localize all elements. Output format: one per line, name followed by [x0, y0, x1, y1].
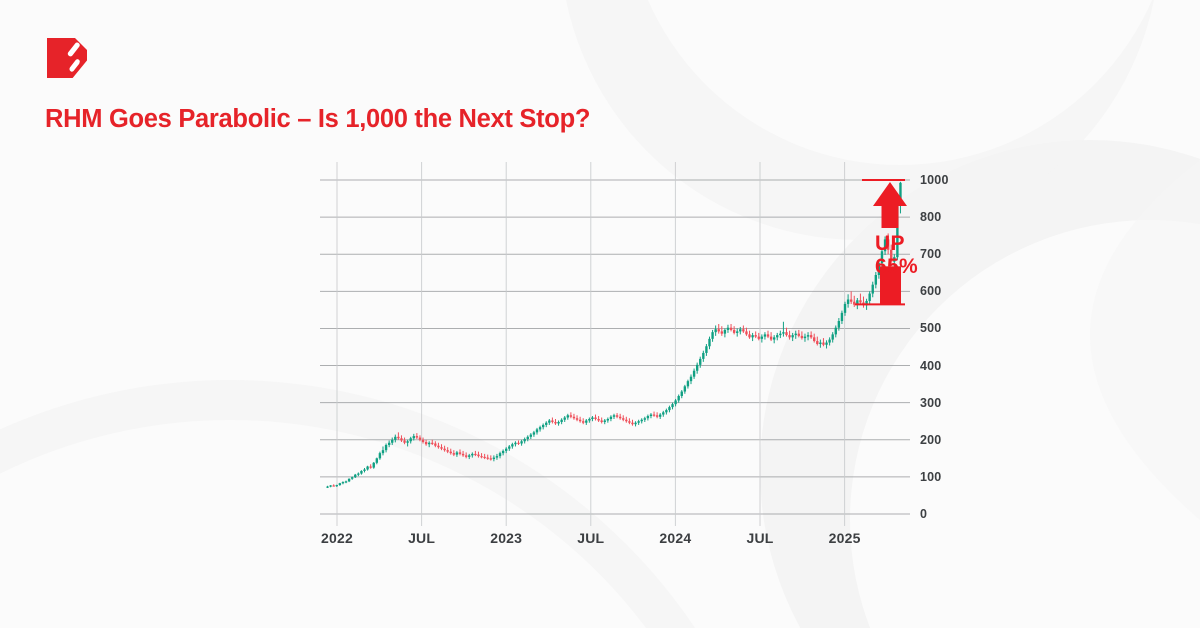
candle-body: [610, 417, 612, 419]
candle-body: [604, 420, 606, 421]
brand-logo[interactable]: [45, 36, 89, 80]
candle-body: [533, 432, 535, 434]
page-title: RHM Goes Parabolic – Is 1,000 the Next S…: [45, 105, 590, 134]
candle-body: [345, 481, 347, 482]
candle-body: [859, 300, 861, 302]
candle-body: [773, 337, 775, 339]
candle-body: [369, 466, 371, 467]
candle-body: [714, 329, 716, 332]
candle-body: [354, 475, 356, 478]
candle-body: [329, 485, 331, 486]
candle-body: [560, 420, 562, 422]
candle-series: [326, 182, 901, 488]
candle-body: [724, 330, 726, 334]
candle-body: [656, 415, 658, 416]
candle-body: [748, 334, 750, 337]
candle-body: [539, 427, 541, 429]
annotation-line-2: 65%: [875, 256, 918, 279]
candle-body: [505, 449, 507, 451]
candle-body: [637, 421, 639, 422]
candle-body: [453, 453, 455, 454]
candle-body: [385, 445, 387, 450]
candle-body: [388, 443, 390, 445]
candle-body: [711, 332, 713, 339]
candle-body: [690, 377, 692, 381]
candle-body: [465, 455, 467, 456]
candle-body: [545, 423, 547, 425]
y-axis-tick-label: 600: [920, 284, 941, 298]
candle-body: [641, 420, 643, 421]
candle-body: [653, 415, 655, 416]
candle-body: [567, 415, 569, 417]
candle-body: [490, 458, 492, 459]
candle-body: [751, 335, 753, 337]
candle-body: [376, 458, 378, 462]
candle-body: [785, 332, 787, 335]
candle-body: [468, 455, 470, 456]
candle-body: [835, 328, 837, 335]
candle-body: [693, 371, 695, 377]
candle-body: [872, 285, 874, 294]
candle-body: [573, 417, 575, 418]
candle-body: [554, 422, 556, 423]
candle-body: [536, 429, 538, 432]
candle-body: [745, 331, 747, 334]
candle-body: [557, 422, 559, 423]
candle-body: [351, 477, 353, 478]
candle-body: [659, 415, 661, 417]
candle-body: [591, 418, 593, 419]
up-arrow-icon: [873, 182, 907, 228]
y-axis-tick-label: 100: [920, 470, 941, 484]
candle-body: [733, 330, 735, 333]
candle-body: [373, 463, 375, 468]
candle-body: [419, 438, 421, 440]
candle-body: [416, 436, 418, 437]
candle-body: [493, 458, 495, 459]
candle-body: [456, 452, 458, 454]
candle-body: [530, 435, 532, 437]
candle-body: [754, 335, 756, 336]
candle-body: [333, 485, 335, 486]
candle-body: [594, 418, 596, 419]
candle-body: [431, 443, 433, 444]
candle-body: [622, 418, 624, 419]
candle-body: [807, 335, 809, 336]
candle-body: [696, 365, 698, 371]
candle-body: [681, 392, 683, 396]
candle-body: [739, 329, 741, 331]
document-pen-logo-icon: [45, 36, 89, 80]
candle-body: [443, 449, 445, 450]
candle-body: [597, 419, 599, 420]
candle-body: [822, 343, 824, 345]
candle-body: [523, 439, 525, 441]
candle-body: [795, 334, 797, 335]
candle-body: [357, 474, 359, 475]
annotation-line-1: UP: [875, 233, 918, 256]
candle-body: [564, 418, 566, 420]
candle-body: [831, 334, 833, 339]
candle-body: [761, 337, 763, 339]
candle-body: [828, 340, 830, 343]
x-axis-tick-label: 2023: [490, 530, 522, 546]
candle-body: [366, 466, 368, 469]
candle-body: [779, 334, 781, 335]
candle-body: [511, 444, 513, 446]
candle-body: [508, 446, 510, 448]
candlestick-chart: 10008007006005004003002001000 2022JUL202…: [0, 0, 1200, 628]
x-axis-tick-label: JUL: [408, 530, 435, 546]
candle-body: [582, 421, 584, 422]
candle-body: [520, 441, 522, 443]
candle-body: [767, 334, 769, 336]
candle-body: [758, 337, 760, 339]
candle-body: [668, 407, 670, 410]
candle-body: [570, 415, 572, 416]
y-axis-tick-label: 700: [920, 247, 941, 261]
y-axis-tick-label: 200: [920, 433, 941, 447]
candle-body: [631, 423, 633, 424]
candle-body: [499, 453, 501, 456]
candle-body: [742, 329, 744, 331]
candle-body: [850, 299, 852, 301]
candle-body: [471, 454, 473, 455]
candle-body: [721, 331, 723, 333]
candle-body: [588, 419, 590, 420]
candle-body: [502, 451, 504, 453]
candle-body: [708, 339, 710, 346]
candle-body: [647, 416, 649, 418]
candle-body: [379, 453, 381, 458]
candle-body: [397, 437, 399, 438]
candle-body: [326, 487, 328, 488]
candle-body: [677, 396, 679, 400]
candle-body: [585, 420, 587, 422]
candle-body: [804, 337, 806, 338]
candle-body: [410, 438, 412, 441]
candle-body: [625, 420, 627, 421]
candle-body: [394, 437, 396, 440]
candle-body: [736, 331, 738, 332]
candle-body: [813, 337, 815, 341]
candle-body: [446, 450, 448, 451]
candle-body: [480, 456, 482, 457]
candle-body: [363, 469, 365, 470]
candle-body: [810, 335, 812, 337]
candle-body: [382, 450, 384, 453]
candle-body: [798, 334, 800, 336]
y-axis-tick-label: 300: [920, 396, 941, 410]
y-axis-tick-label: 0: [920, 507, 927, 521]
x-axis-tick-label: 2022: [321, 530, 353, 546]
candle-body: [634, 423, 636, 424]
candle-body: [548, 420, 550, 422]
candle-body: [847, 299, 849, 303]
candle-body: [791, 335, 793, 337]
candle-body: [425, 442, 427, 444]
candle-body: [727, 328, 729, 330]
candle-body: [816, 341, 818, 344]
candle-body: [437, 446, 439, 447]
candle-body: [825, 343, 827, 345]
candle-body: [360, 471, 362, 474]
candle-body: [619, 417, 621, 418]
candle-body: [440, 447, 442, 448]
candle-body: [422, 440, 424, 442]
candle-body: [838, 321, 840, 328]
candle-body: [607, 419, 609, 420]
x-axis-tick-label: 2025: [829, 530, 861, 546]
candle-body: [462, 454, 464, 455]
candle-body: [517, 443, 519, 444]
candle-body: [514, 443, 516, 444]
candle-body: [868, 294, 870, 301]
candle-body: [477, 455, 479, 456]
x-axis-tick-label: 2024: [659, 530, 691, 546]
candle-body: [616, 415, 618, 416]
x-axis-tick-label: JUL: [577, 530, 604, 546]
candle-body: [406, 441, 408, 442]
candle-body: [730, 328, 732, 330]
candle-body: [600, 420, 602, 421]
candle-body: [684, 386, 686, 391]
candle-body: [483, 457, 485, 458]
candle-body: [459, 452, 461, 453]
candle-body: [699, 359, 701, 365]
candle-body: [662, 412, 664, 414]
candle-body: [844, 304, 846, 313]
candle-body: [702, 353, 704, 359]
candle-body: [665, 410, 667, 412]
candle-body: [336, 485, 338, 486]
candle-body: [674, 400, 676, 404]
candle-body: [718, 329, 720, 331]
candle-body: [527, 437, 529, 439]
candle-body: [391, 440, 393, 443]
y-axis-tick-label: 400: [920, 359, 941, 373]
candle-body: [434, 443, 436, 445]
candle-body: [496, 456, 498, 457]
candle-body: [841, 313, 843, 321]
candle-body: [576, 418, 578, 419]
candle-body: [650, 415, 652, 416]
y-axis-tick-label: 800: [920, 210, 941, 224]
candle-body: [348, 479, 350, 482]
candle-body: [705, 346, 707, 353]
candle-body: [628, 421, 630, 422]
candle-body: [687, 381, 689, 386]
candle-body: [339, 483, 341, 485]
candle-body: [770, 337, 772, 340]
candle-body: [644, 418, 646, 419]
candle-body: [764, 334, 766, 336]
candle-body: [579, 420, 581, 421]
candle-body: [613, 415, 615, 416]
candle-body: [450, 452, 452, 453]
candle-body: [819, 343, 821, 344]
candle-body: [428, 443, 430, 444]
candle-body: [400, 438, 402, 440]
candle-body: [776, 335, 778, 337]
candle-body: [413, 436, 415, 438]
candle-body: [474, 454, 476, 455]
candle-body: [782, 332, 784, 333]
y-axis-tick-label: 1000: [920, 173, 949, 187]
candle-body: [342, 482, 344, 483]
candle-body: [551, 420, 553, 421]
candle-body: [671, 404, 673, 407]
candle-body: [788, 335, 790, 337]
candle-body: [487, 458, 489, 459]
y-axis-tick-label: 500: [920, 321, 941, 335]
candle-body: [801, 336, 803, 338]
annotation-up-65: UP 65%: [875, 233, 918, 278]
candle-body: [403, 441, 405, 443]
candle-body: [542, 425, 544, 427]
x-axis-tick-label: JUL: [746, 530, 773, 546]
